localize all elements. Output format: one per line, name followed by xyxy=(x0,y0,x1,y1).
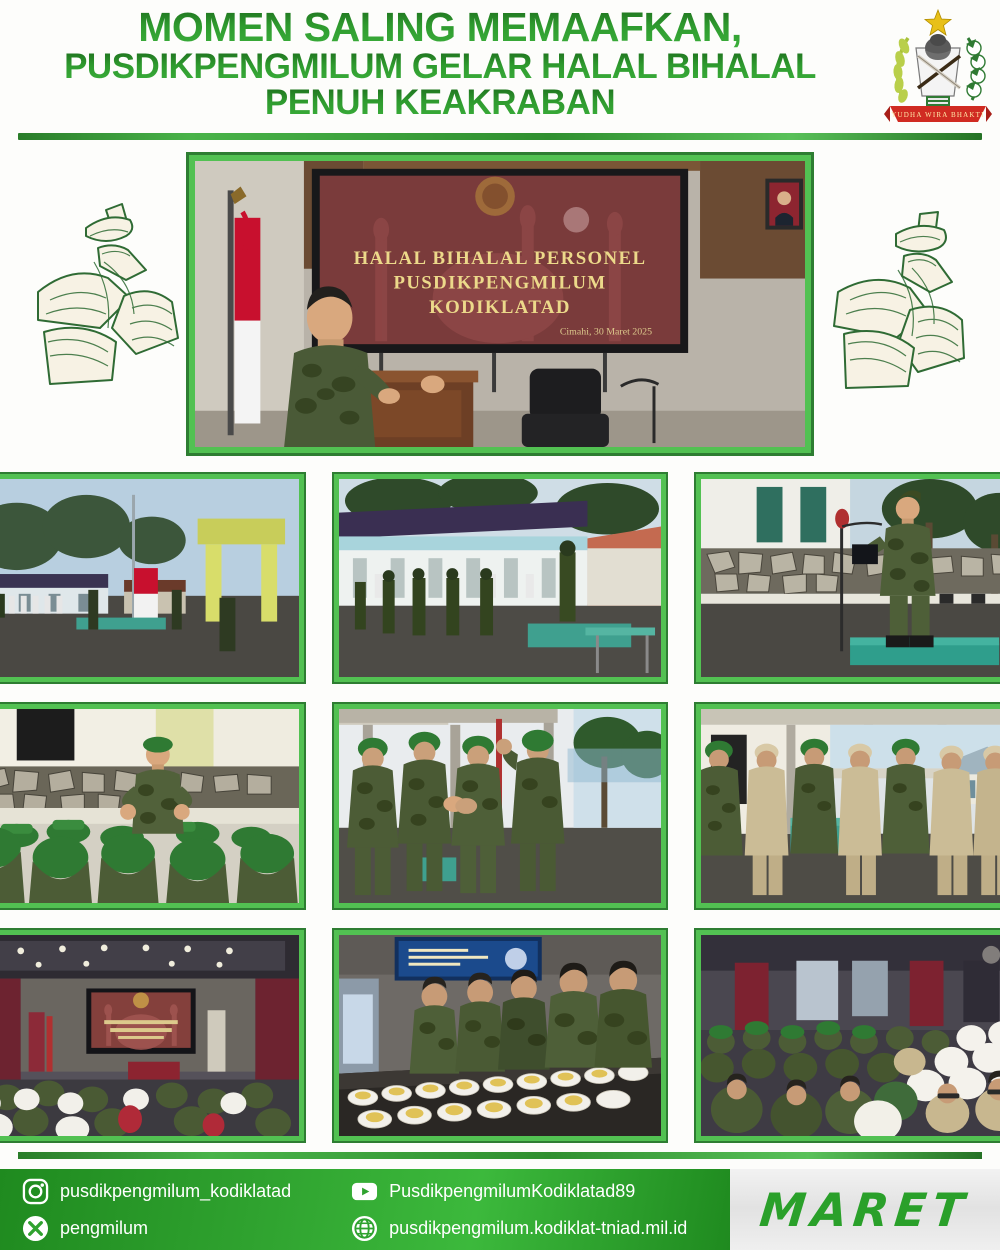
social-item-instagram[interactable]: pusdikpengmilum_kodiklatad xyxy=(22,1178,351,1205)
photo-frame xyxy=(332,472,668,684)
photo-flag-ceremony-field xyxy=(0,479,299,677)
photo-frame xyxy=(694,928,1000,1143)
photo-frame xyxy=(0,472,306,684)
photo-auditorium-assembly xyxy=(0,935,299,1136)
photo-handshake-greeting xyxy=(339,709,661,903)
month-label: MARET xyxy=(757,1183,972,1237)
photo-frame xyxy=(694,702,1000,910)
hero-screen-title-3: KODIKLATAD xyxy=(429,297,571,318)
ketupat-illustration-right-icon xyxy=(820,200,990,400)
photo-grid-row-2 xyxy=(0,702,1000,910)
photo-frame xyxy=(0,928,306,1143)
hero-photo-ceremony-speech: HALAL BIHALAL PERSONEL PUSDIKPENGMILUM K… xyxy=(195,161,805,447)
photo-frame xyxy=(332,928,668,1143)
social-item-website[interactable]: pusdikpengmilum.kodiklat-tniad.mil.id xyxy=(351,1215,730,1242)
title-line-1: MOMEN SALING MEMAAFKAN, xyxy=(0,6,880,49)
poster-header: MOMEN SALING MEMAAFKAN, PUSDIKPENGMILUM … xyxy=(0,0,1000,132)
social-item-x-twitter[interactable]: pengmilum xyxy=(22,1215,351,1242)
photo-grid-row-3 xyxy=(0,928,1000,1143)
photo-salam-line-personnel xyxy=(701,709,1000,903)
title-line-2: PUSDIKPENGMILUM GELAR HALAL BIHALAL xyxy=(0,49,880,85)
photo-frame xyxy=(0,702,306,910)
website-url: pusdikpengmilum.kodiklat-tniad.mil.id xyxy=(389,1218,687,1239)
emblem-motto-text: YUDHA WIRA BHAKTI xyxy=(891,111,984,119)
footer-social-row-2: pengmilum pusdikpengmilum.kodikla xyxy=(22,1213,730,1243)
photo-grid-row-1 xyxy=(0,472,1000,684)
youtube-icon xyxy=(351,1178,378,1205)
footer-month-panel: MARET xyxy=(730,1169,1000,1250)
youtube-handle: PusdikpengmilumKodiklatad89 xyxy=(389,1181,635,1202)
footer-social-row-1: pusdikpengmilum_kodiklatad Pusdikpengmil… xyxy=(22,1176,730,1206)
footer-social-panel: pusdikpengmilum_kodiklatad Pusdikpengmil… xyxy=(0,1169,730,1250)
instagram-icon xyxy=(22,1178,49,1205)
x-twitter-icon xyxy=(22,1215,49,1242)
photo-frame xyxy=(332,702,668,910)
photo-buffet-meal-line xyxy=(339,935,661,1136)
hero-screen-date: Cimahi, 30 Maret 2025 xyxy=(560,326,652,337)
hero-photo-frame: HALAL BIHALAL PERSONEL PUSDIKPENGMILUM K… xyxy=(186,152,814,456)
social-item-youtube[interactable]: PusdikpengmilumKodiklatad89 xyxy=(351,1178,730,1205)
photo-officer-reading-speech xyxy=(701,479,1000,677)
hero-screen-title-1: HALAL BIHALAL PERSONEL xyxy=(354,248,647,269)
kodiklatad-emblem-icon: YUDHA WIRA BHAKTI xyxy=(882,4,994,126)
photo-commander-addressing-troops xyxy=(0,709,299,903)
footer-divider xyxy=(18,1152,982,1159)
photo-frame xyxy=(694,472,1000,684)
photo-audience-seated xyxy=(701,935,1000,1136)
x-twitter-handle: pengmilum xyxy=(60,1218,148,1239)
website-globe-icon xyxy=(351,1215,378,1242)
title-line-3: PENUH KEAKRABAN xyxy=(0,85,880,121)
ketupat-illustration-left-icon xyxy=(28,192,198,392)
page-title: MOMEN SALING MEMAAFKAN, PUSDIKPENGMILUM … xyxy=(0,6,880,121)
poster-footer: pusdikpengmilum_kodiklatad Pusdikpengmil… xyxy=(0,1169,1000,1250)
poster-root: MOMEN SALING MEMAAFKAN, PUSDIKPENGMILUM … xyxy=(0,0,1000,1250)
photo-formation-inspection xyxy=(339,479,661,677)
instagram-handle: pusdikpengmilum_kodiklatad xyxy=(60,1181,291,1202)
hero-screen-title-2: PUSDIKPENGMILUM xyxy=(393,272,606,293)
header-divider xyxy=(18,133,982,140)
